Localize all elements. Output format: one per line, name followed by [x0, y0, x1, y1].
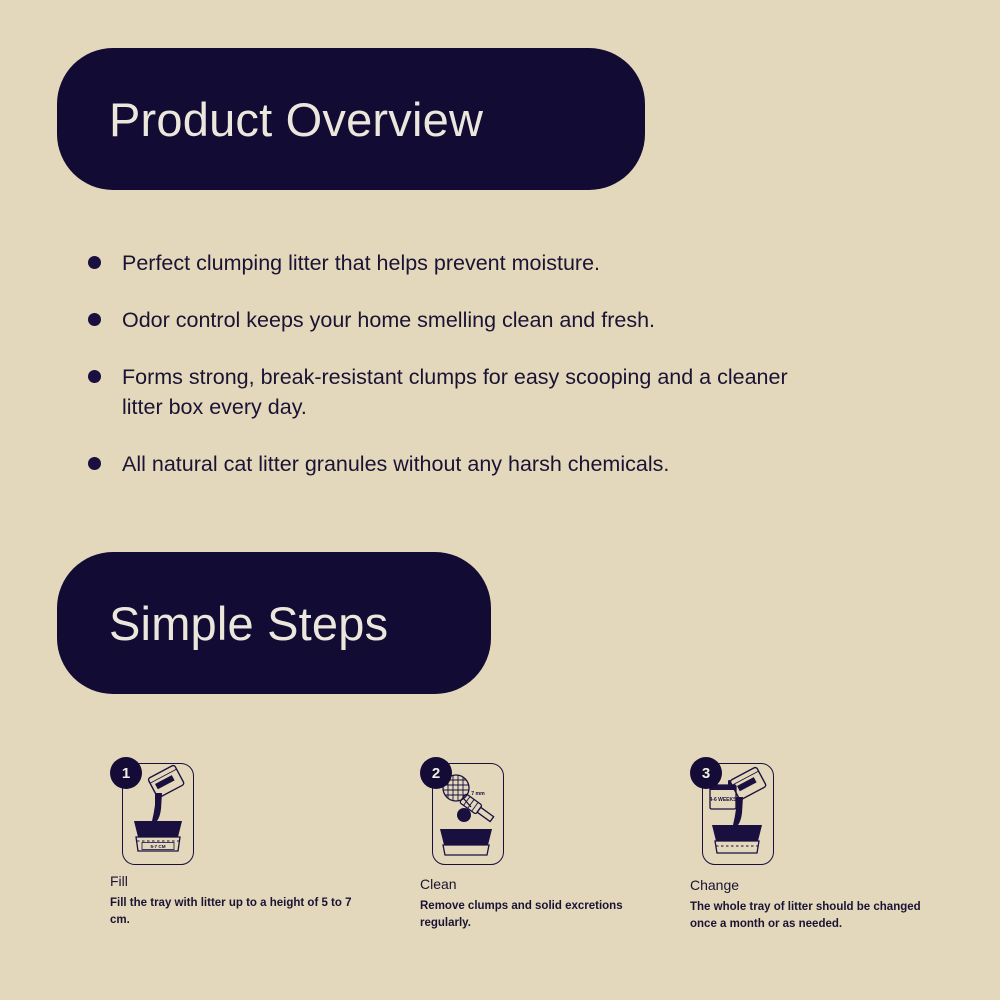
step-description: Fill the tray with litter up to a height…: [110, 895, 360, 929]
feature-item: Odor control keeps your home smelling cl…: [88, 305, 938, 335]
step-card: 5-7 CM 1: [110, 757, 194, 867]
step-art-label: 4-6 WEEKS: [710, 797, 738, 803]
step-item-change: 4-6 WEEKS 3 Change The whole tray of lit…: [690, 757, 980, 933]
step-art-label: 7 mm: [471, 791, 485, 797]
steps-row: 5-7 CM 1 Fill Fill the tray with litter …: [0, 757, 1000, 997]
step-number-badge: 2: [420, 757, 452, 789]
feature-item: All natural cat litter granules without …: [88, 449, 938, 479]
feature-text: Perfect clumping litter that helps preve…: [122, 248, 600, 278]
feature-list: Perfect clumping litter that helps preve…: [88, 248, 938, 506]
feature-text: All natural cat litter granules without …: [122, 449, 669, 479]
step-number-badge: 3: [690, 757, 722, 789]
step-art-label: 5-7 CM: [150, 844, 165, 849]
bullet-dot-icon: [88, 370, 101, 383]
step-caption: Clean Remove clumps and solid excretions…: [420, 876, 710, 932]
bullet-dot-icon: [88, 457, 101, 470]
step-title: Fill: [110, 873, 400, 889]
step-caption: Change The whole tray of litter should b…: [690, 877, 980, 933]
step-number-badge: 1: [110, 757, 142, 789]
step-title: Clean: [420, 876, 710, 892]
feature-item: Perfect clumping litter that helps preve…: [88, 248, 938, 278]
step-description: The whole tray of litter should be chang…: [690, 899, 922, 933]
product-overview-heading-pill: Product Overview: [57, 48, 645, 190]
step-title: Change: [690, 877, 980, 893]
bullet-dot-icon: [88, 313, 101, 326]
feature-item: Forms strong, break-resistant clumps for…: [88, 362, 938, 422]
simple-steps-heading-pill: Simple Steps: [57, 552, 491, 694]
simple-steps-heading-label: Simple Steps: [109, 596, 388, 651]
product-overview-heading-label: Product Overview: [109, 92, 483, 147]
step-card: 7 mm 2: [420, 757, 504, 867]
step-description: Remove clumps and solid excretions regul…: [420, 898, 670, 932]
step-item-fill: 5-7 CM 1 Fill Fill the tray with litter …: [110, 757, 400, 929]
feature-text: Odor control keeps your home smelling cl…: [122, 305, 655, 335]
bullet-dot-icon: [88, 256, 101, 269]
step-item-clean: 7 mm 2 Clean Remove clumps and solid exc…: [420, 757, 710, 932]
feature-text: Forms strong, break-resistant clumps for…: [122, 362, 822, 422]
step-caption: Fill Fill the tray with litter up to a h…: [110, 873, 400, 929]
step-card: 4-6 WEEKS 3: [690, 757, 774, 867]
